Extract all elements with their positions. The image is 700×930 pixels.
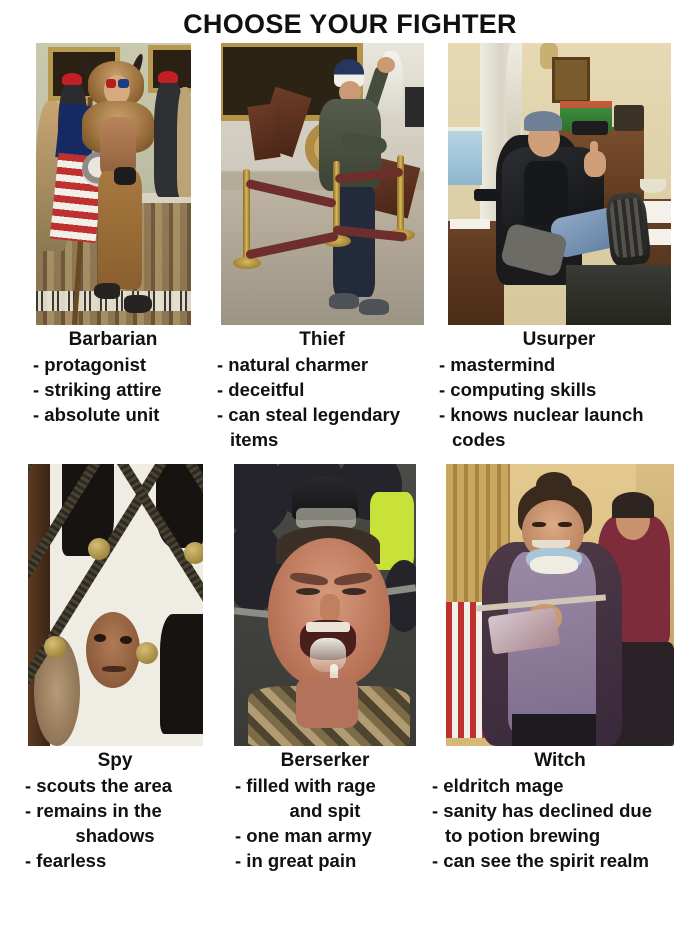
scene-bystander: [177, 87, 191, 197]
scene-legs: [512, 714, 596, 746]
trait-item: - deceitful: [217, 377, 427, 402]
scene-brass-stud: [184, 542, 203, 564]
trait-item: - one man army: [235, 823, 415, 848]
scene-desk-surface: [566, 265, 671, 325]
fighter-image-spy: [28, 464, 203, 746]
trait-item: - striking attire: [33, 377, 193, 402]
trait-item: - sanity has declined due: [432, 798, 688, 823]
scene-boot-tread: [609, 197, 647, 258]
fighter-traits: - protagonist - striking attire - absolu…: [33, 352, 193, 427]
scene-eye: [532, 522, 546, 527]
fighter-image-usurper: [448, 43, 671, 325]
trait-item: - absolute unit: [33, 402, 193, 427]
scene-bowl: [640, 179, 666, 193]
trait-item: - knows nuclear launch: [439, 402, 679, 427]
fighter-name: Barbarian: [69, 325, 158, 352]
scene-face: [86, 612, 140, 688]
scene-stanchion-base: [233, 257, 261, 269]
fighter-card-thief: Thief - natural charmer - deceitful - ca…: [211, 43, 433, 452]
scene-cap: [524, 111, 562, 131]
fighter-traits: - scouts the area - remains in the shado…: [25, 773, 205, 873]
trait-item-continuation: and spit: [235, 798, 415, 823]
fighter-card-usurper: Usurper - mastermind - computing skills …: [433, 43, 685, 452]
scene-helmet-visor: [296, 508, 356, 528]
scene-hand: [377, 57, 395, 73]
scene-eye: [94, 634, 106, 642]
fighter-traits: - mastermind - computing skills - knows …: [439, 352, 679, 452]
scene-phone: [474, 189, 500, 201]
scene-shoe: [359, 299, 389, 315]
trait-item: - protagonist: [33, 352, 193, 377]
fighter-row-2: Spy - scouts the area - remains in the s…: [0, 464, 700, 873]
page-title: CHOOSE YOUR FIGHTER: [0, 0, 700, 41]
scene-face-paint-blue: [118, 79, 129, 88]
scene-window: [448, 129, 482, 185]
fighter-traits: - filled with rage and spit - one man ar…: [235, 773, 415, 873]
scene-thumb: [590, 141, 598, 157]
trait-item: - natural charmer: [217, 352, 427, 377]
scene-eye: [558, 522, 572, 527]
trait-item-continuation: items: [217, 427, 427, 452]
trait-item: - remains in the: [25, 798, 205, 823]
fighter-image-witch: [446, 464, 674, 746]
scene-eye: [120, 636, 132, 644]
fighter-card-barbarian: Barbarian - protagonist - striking attir…: [15, 43, 211, 427]
scene-black-object: [572, 121, 608, 135]
trait-item-continuation: shadows: [25, 823, 205, 848]
scene-brass-stud: [44, 636, 66, 658]
meme-container: CHOOSE YOUR FIGHTER: [0, 0, 700, 930]
fighter-card-berserker: Berserker - filled with rage and spit - …: [220, 464, 430, 873]
fighter-name: Thief: [299, 325, 344, 352]
scene-dark-object: [405, 87, 424, 127]
scene-eye: [342, 588, 366, 595]
fighter-image-thief: [221, 43, 424, 325]
trait-item: - in great pain: [235, 848, 415, 873]
fighter-name: Spy: [98, 746, 133, 773]
fighter-name: Usurper: [523, 325, 596, 352]
scene-glove: [114, 167, 136, 185]
trait-item: - can steal legendary: [217, 402, 427, 427]
fighter-name: Witch: [534, 746, 586, 773]
fighter-name: Berserker: [281, 746, 370, 773]
fighter-image-berserker: [234, 464, 416, 746]
scene-basket: [614, 105, 644, 131]
scene-mouth: [102, 666, 126, 672]
scene-teeth: [306, 622, 350, 632]
scene-window-frame: [448, 127, 484, 131]
trait-item: - computing skills: [439, 377, 679, 402]
scene-nose: [320, 594, 340, 622]
scene-brass-stud: [88, 538, 110, 560]
trait-item: - scouts the area: [25, 773, 205, 798]
scene-eye: [296, 588, 320, 595]
trait-item: - eldritch mage: [432, 773, 688, 798]
scene-papers: [450, 219, 490, 229]
scene-brass-stud: [136, 642, 158, 664]
trait-item: - mastermind: [439, 352, 679, 377]
scene-bystander-hair: [612, 492, 654, 518]
scene-boot: [124, 295, 152, 313]
scene-dark-shape: [160, 614, 203, 734]
scene-pants: [98, 171, 142, 289]
fighter-image-barbarian: [36, 43, 191, 325]
scene-face-paint-red: [106, 79, 116, 88]
fighter-traits: - natural charmer - deceitful - can stea…: [217, 352, 427, 452]
scene-wall-frame: [552, 57, 590, 103]
trait-item: - can see the spirit realm: [432, 848, 688, 873]
scene-red-cap: [158, 71, 178, 83]
trait-item-continuation: codes: [439, 427, 679, 452]
trait-item: - filled with rage: [235, 773, 415, 798]
fighter-traits: - eldritch mage - sanity has declined du…: [432, 773, 688, 873]
trait-item: - fearless: [25, 848, 205, 873]
fighter-row-1: Barbarian - protagonist - striking attir…: [0, 43, 700, 452]
scene-box-lid: [560, 101, 612, 108]
trait-item-continuation: to potion brewing: [432, 823, 688, 848]
scene-collar: [530, 556, 578, 574]
fighter-card-spy: Spy - scouts the area - remains in the s…: [10, 464, 220, 873]
scene-carpet-lower: [36, 311, 191, 325]
scene-shirt: [524, 161, 568, 225]
scene-boot: [94, 283, 120, 299]
scene-red-cap: [62, 73, 82, 85]
fighter-card-witch: Witch - eldritch mage - sanity has decli…: [430, 464, 690, 873]
scene-neck: [296, 678, 358, 728]
scene-hair-bun: [536, 472, 572, 498]
scene-shoe: [329, 293, 359, 309]
scene-spit: [310, 638, 346, 672]
